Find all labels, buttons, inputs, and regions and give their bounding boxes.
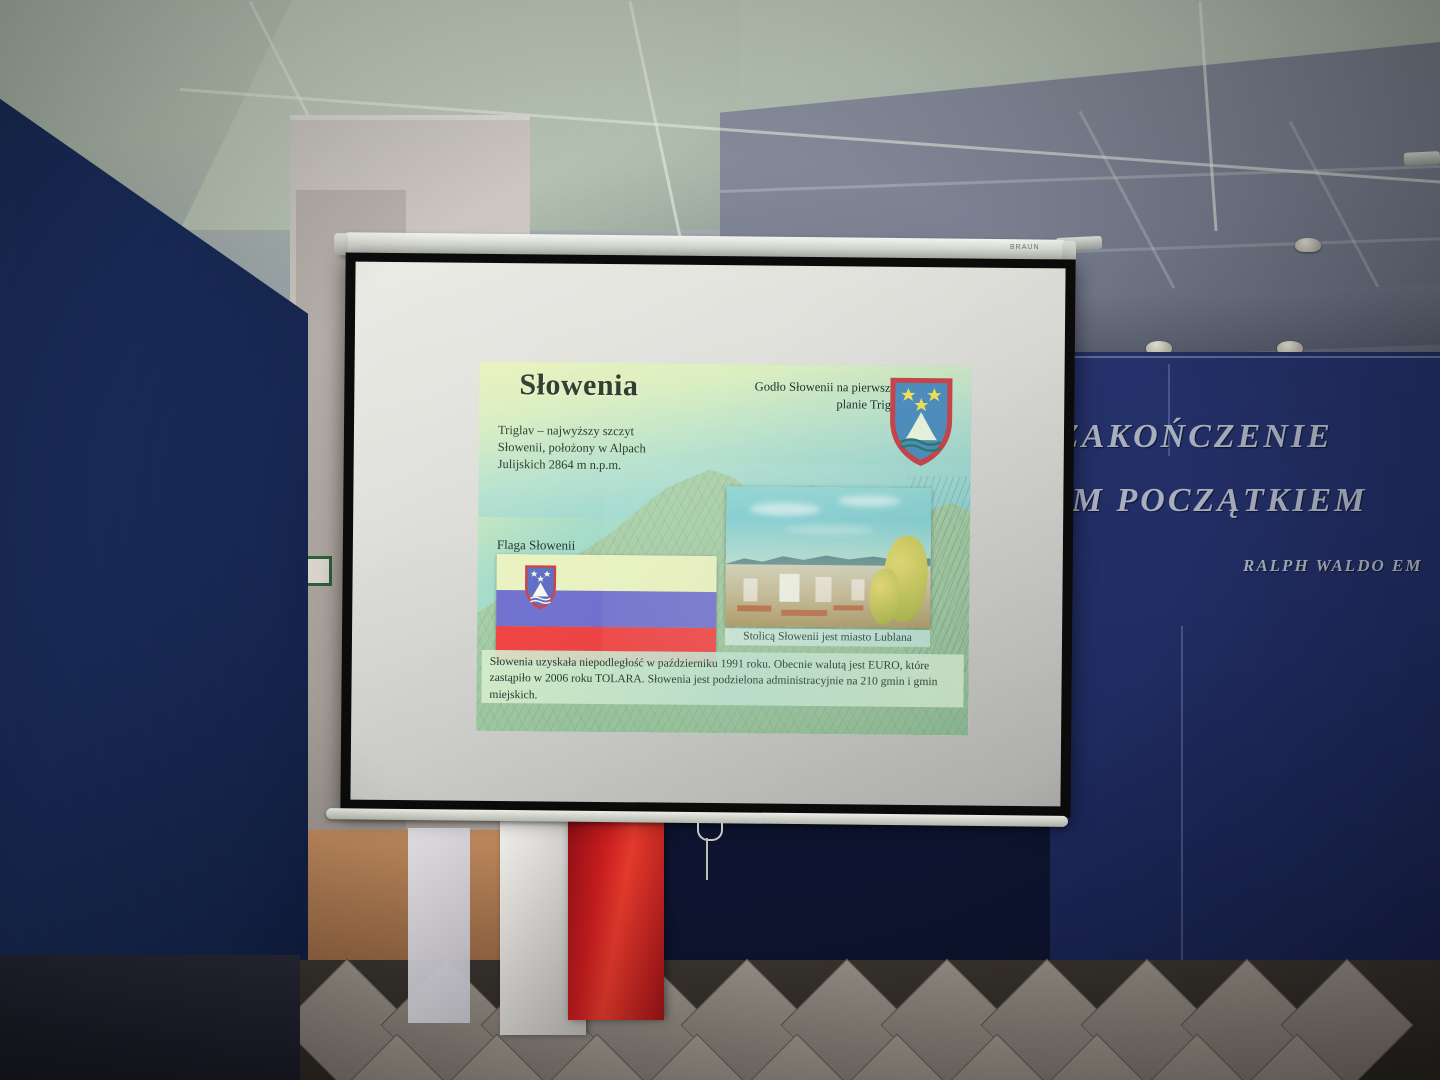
screen-pull-rod[interactable] — [706, 838, 708, 880]
flag-label: Flaga Słowenii — [497, 537, 576, 554]
screen-pull-hook[interactable] — [697, 823, 723, 841]
photo-building — [815, 577, 831, 602]
flag-coat-of-arms — [522, 563, 558, 611]
projector-screen-surface: Słowenia Triglav – najwyższy szczyt Słow… — [350, 262, 1065, 807]
roller-brand-label: BRAUN — [1010, 244, 1040, 251]
banner-seam — [1181, 626, 1183, 966]
slovenia-flag — [496, 554, 717, 664]
white-drapery-panel — [408, 828, 470, 1023]
projector-screen-frame: Słowenia Triglav – najwyższy szczyt Słow… — [340, 253, 1075, 818]
slide-bottom-band: Słowenia uzyskała niepodległość w paździ… — [481, 650, 963, 708]
photo-building — [851, 580, 864, 601]
banner-line-1: ZAKOŃCZENIE — [1058, 418, 1333, 456]
photo-roof — [833, 605, 863, 610]
banner-attribution: RALPH WALDO EM — [1243, 556, 1422, 576]
slide-title: Słowenia — [519, 368, 638, 403]
coat-of-arms-caption: Godło Słowenii na pierwszym planie Trigl… — [754, 378, 906, 413]
photo-building — [743, 579, 757, 602]
smoke-detector-icon — [1295, 238, 1321, 252]
room-photo-scene: ZAKOŃCZENIE YM POCZĄTKIEM RALPH WALDO EM — [0, 0, 1440, 1080]
photo-roof — [781, 610, 827, 616]
triglav-description: Triglav – najwyższy szczyt Słowenii, poł… — [498, 422, 648, 474]
photo-building — [779, 573, 799, 601]
red-drapery — [568, 820, 664, 1020]
ceiling-light-fixture — [1404, 151, 1440, 166]
projected-slide: Słowenia Triglav – najwyższy szczyt Słow… — [476, 362, 972, 736]
banner-line-2: YM POCZĄTKIEM — [1048, 482, 1368, 520]
slide-bottom-text: Słowenia uzyskała niepodległość w paździ… — [489, 654, 955, 708]
slovenia-coat-of-arms — [885, 374, 958, 471]
ljubljana-caption: Stolicą Słowenii jest miasto Lublana — [725, 628, 930, 647]
ljubljana-photo — [725, 486, 931, 628]
floor-shadow-left — [0, 955, 300, 1080]
photo-roof — [737, 605, 771, 611]
